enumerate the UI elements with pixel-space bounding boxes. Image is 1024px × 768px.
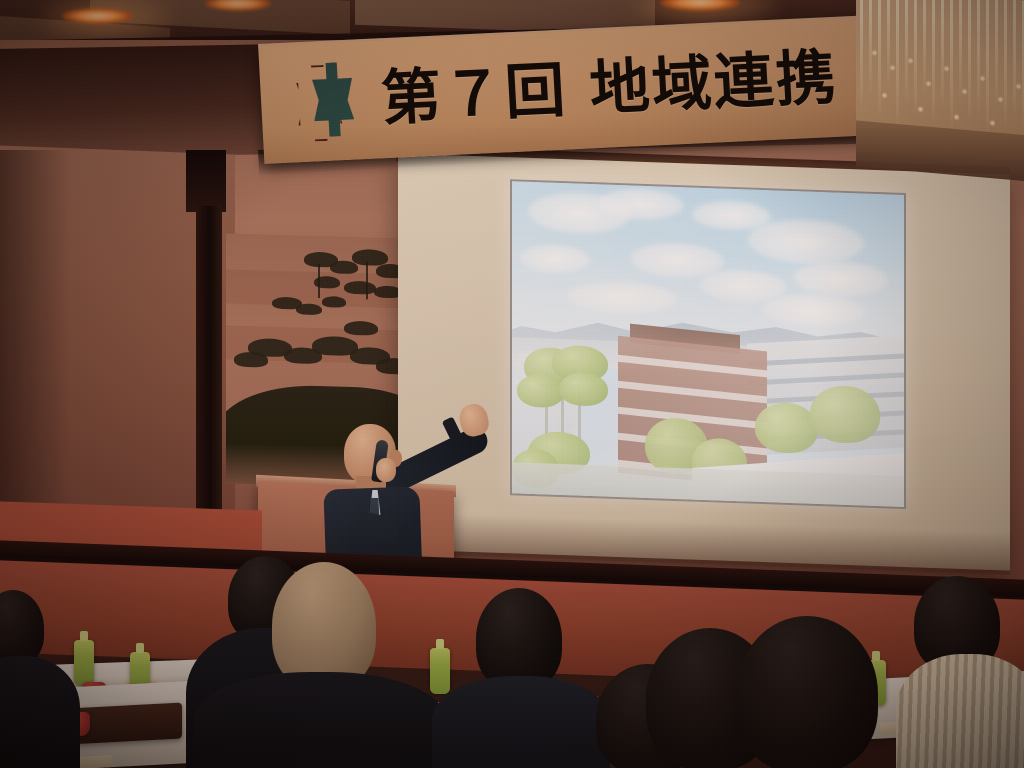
wall-pillar-top (186, 150, 226, 212)
attendee-gray-hair-head (272, 562, 376, 690)
tea-bottle (74, 640, 94, 686)
attendee-bob-hair-head (476, 588, 562, 690)
attendee-center-head (736, 616, 878, 768)
napkin (78, 755, 112, 768)
presenter-mic-hand (376, 458, 396, 482)
ceiling-downlight-icon (62, 8, 134, 24)
projected-slide (510, 179, 906, 509)
attendee-gray-hair-body (194, 672, 446, 768)
cross-logo-icon (295, 62, 357, 143)
tea-bottle (430, 648, 450, 694)
banner-title: 第７回 地域連携 (380, 48, 840, 129)
attendee-striped-shirt-body (896, 654, 1024, 768)
left-wall-shadow (0, 150, 70, 530)
attendee-bob-hair-body (432, 676, 610, 768)
conference-photo: 第７回 地域連携 (0, 0, 1024, 768)
wall-pillar (196, 206, 222, 536)
